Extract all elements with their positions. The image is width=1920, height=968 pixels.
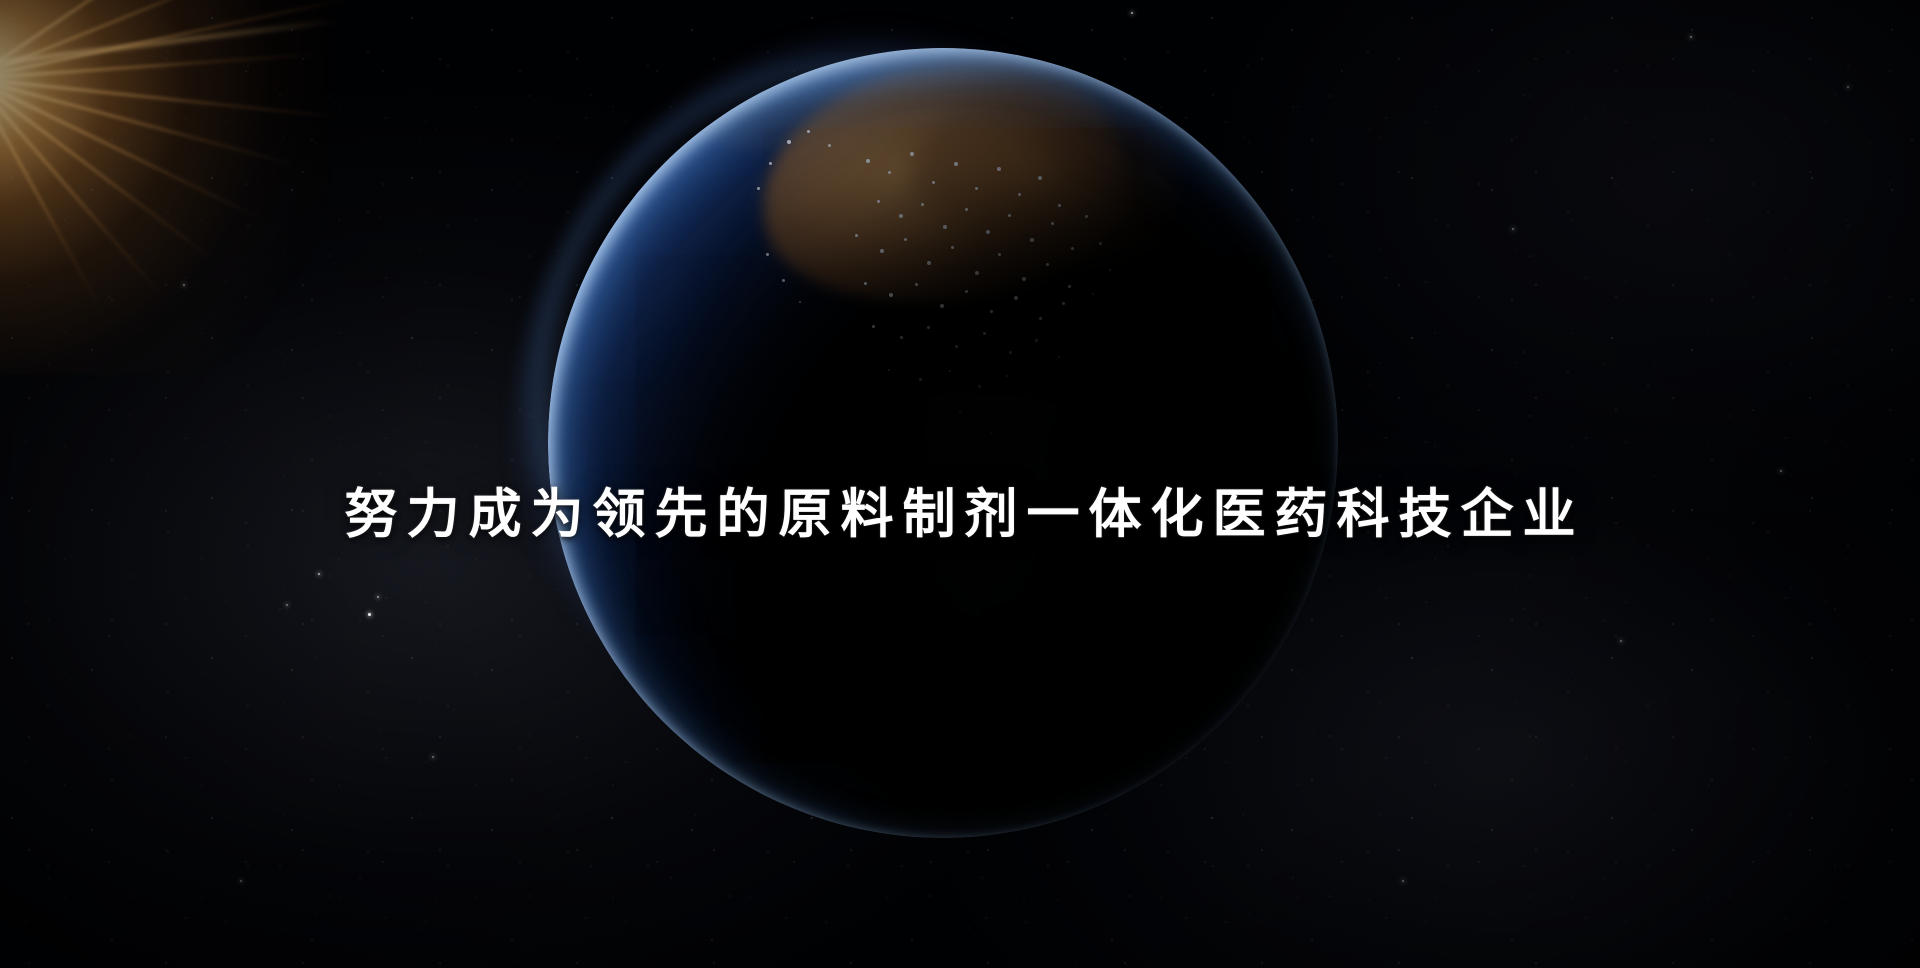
- hero-headline: 努力成为领先的原料制剂一体化医药科技企业: [336, 486, 1585, 544]
- hero-banner: 努力成为领先的原料制剂一体化医药科技企业: [0, 0, 1920, 968]
- earth-globe: [548, 48, 1338, 838]
- earth-rim-highlight: [548, 48, 1338, 838]
- earth-body: [548, 48, 1338, 838]
